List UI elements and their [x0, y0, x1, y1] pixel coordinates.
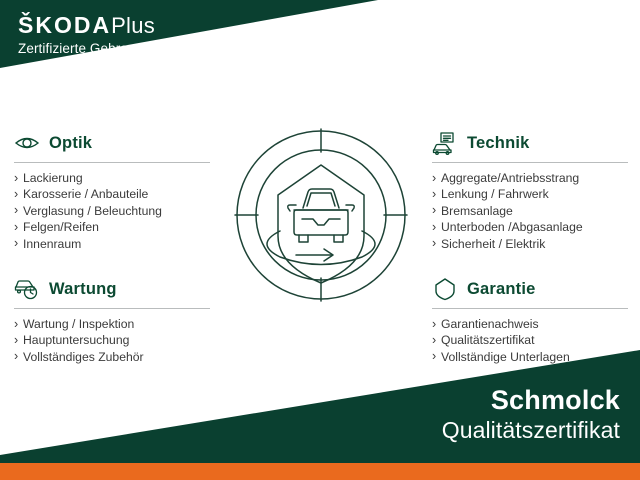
list-item: Sicherheit / Elektrik [432, 236, 628, 252]
section-technik-title: Technik [467, 134, 530, 153]
orange-accent-bar [0, 463, 640, 480]
list-item: Felgen/Reifen [14, 219, 210, 235]
section-wartung-header: Wartung [14, 274, 210, 304]
list-item: Innenraum [14, 236, 210, 252]
list-item: Aggregate/Antriebsstrang [432, 170, 628, 186]
list-item: Wartung / Inspektion [14, 316, 210, 332]
list-item: Verglasung / Beleuchtung [14, 203, 210, 219]
list-item: Lenkung / Fahrwerk [432, 186, 628, 202]
logo-tagline: Zertifizierte Gebrauchtwagen [18, 40, 194, 58]
section-divider [432, 162, 628, 163]
plus-wordmark: Plus [111, 13, 155, 38]
car-service-clock-icon [14, 277, 40, 301]
list-item: Vollständiges Zubehör [14, 349, 210, 365]
section-optik-header: Optik [14, 128, 210, 158]
skoda-wordmark: ŠKODA [18, 12, 111, 38]
list-item: Unterboden /Abgasanlage [432, 219, 628, 235]
section-technik-header: Technik [432, 128, 628, 158]
car-document-icon [432, 131, 458, 155]
shield-car-inspection-emblem [232, 126, 410, 304]
certificate-label: Qualitätszertifikat [442, 416, 620, 444]
shield-icon [432, 277, 458, 301]
eye-icon [14, 131, 40, 155]
list-item: Garantienachweis [432, 316, 628, 332]
dealer-brand-block: Schmolck Qualitätszertifikat [442, 385, 620, 444]
section-garantie-header: Garantie [432, 274, 628, 304]
left-column: Optik Lackierung Karosserie / Anbauteile… [14, 128, 210, 371]
section-technik: Technik Aggregate/Antriebsstrang Lenkung… [432, 128, 628, 252]
section-optik-title: Optik [49, 134, 92, 153]
skoda-plus-logo: ŠKODAPlus Zertifizierte Gebrauchtwagen [18, 12, 194, 58]
section-optik: Optik Lackierung Karosserie / Anbauteile… [14, 128, 210, 252]
logo-primary-line: ŠKODAPlus [18, 12, 194, 39]
list-item: Qualitätszertifikat [432, 332, 628, 348]
section-wartung-title: Wartung [49, 280, 117, 299]
section-wartung: Wartung Wartung / Inspektion Hauptunters… [14, 274, 210, 365]
list-item: Bremsanlage [432, 203, 628, 219]
section-divider [14, 308, 210, 309]
section-garantie-title: Garantie [467, 280, 536, 299]
section-garantie: Garantie Garantienachweis Qualitätszerti… [432, 274, 628, 365]
right-column: Technik Aggregate/Antriebsstrang Lenkung… [432, 128, 628, 371]
section-garantie-list: Garantienachweis Qualitätszertifikat Vol… [432, 316, 628, 365]
dealer-name: Schmolck [442, 385, 620, 416]
section-optik-list: Lackierung Karosserie / Anbauteile Vergl… [14, 170, 210, 252]
list-item: Vollständige Unterlagen [432, 349, 628, 365]
list-item: Lackierung [14, 170, 210, 186]
section-divider [432, 308, 628, 309]
section-divider [14, 162, 210, 163]
list-item: Karosserie / Anbauteile [14, 186, 210, 202]
section-wartung-list: Wartung / Inspektion Hauptuntersuchung V… [14, 316, 210, 365]
list-item: Hauptuntersuchung [14, 332, 210, 348]
section-technik-list: Aggregate/Antriebsstrang Lenkung / Fahrw… [432, 170, 628, 252]
